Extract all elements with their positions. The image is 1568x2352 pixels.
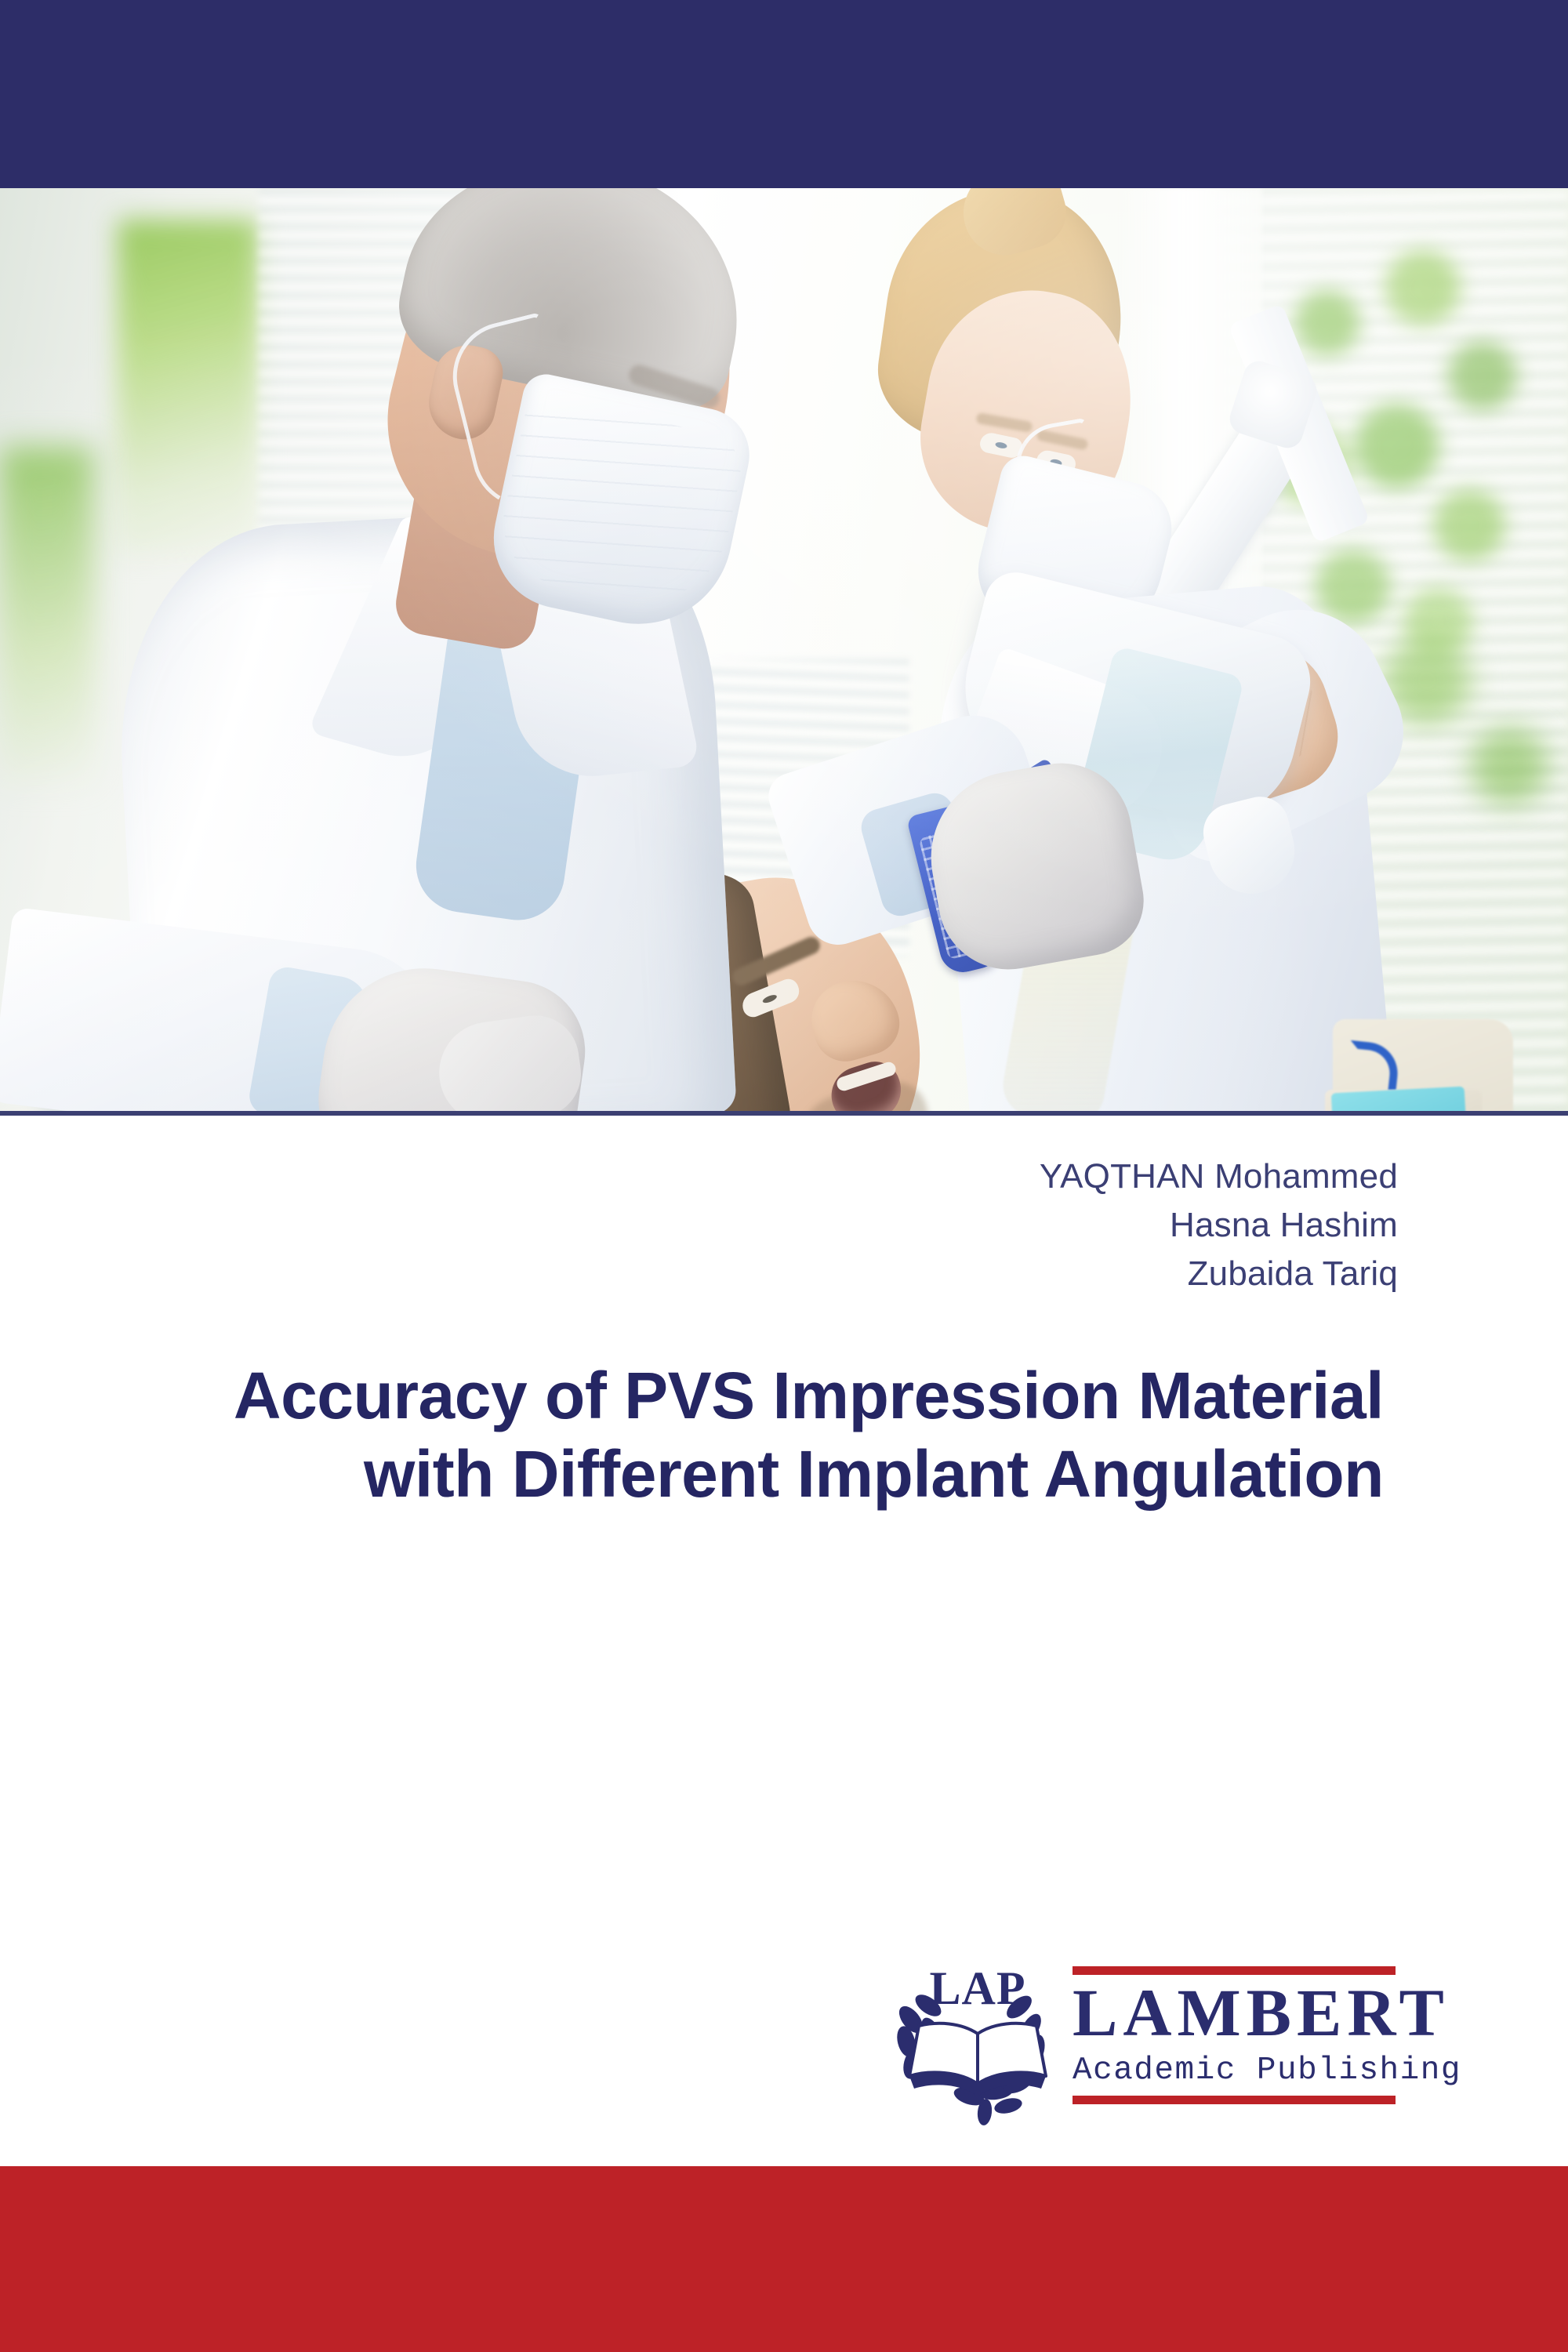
- green-wall-art-panel-lower: [0, 447, 94, 784]
- publisher-logo: LAP LAMBERT Academic Publishing: [894, 1958, 1396, 2131]
- publisher-tagline: Academic Publishing: [1073, 2050, 1396, 2096]
- logo-rule-bottom: [1073, 2096, 1396, 2104]
- author-name-1: YAQTHAN Mohammed: [0, 1152, 1398, 1201]
- cover-photo: [0, 188, 1568, 1116]
- title-line-1: Accuracy of PVS Impression: [234, 1359, 1120, 1432]
- book-cover: YAQTHAN Mohammed Hasna Hashim Zubaida Ta…: [0, 0, 1568, 2352]
- author-list: YAQTHAN Mohammed Hasna Hashim Zubaida Ta…: [0, 1152, 1398, 1298]
- author-name-2: Hasna Hashim: [0, 1201, 1398, 1250]
- author-name-3: Zubaida Tariq: [0, 1250, 1398, 1298]
- svg-text:LAP: LAP: [930, 1962, 1026, 2014]
- clinic-counter: [0, 1113, 439, 1116]
- publisher-wordmark: LAMBERT Academic Publishing: [1073, 1966, 1396, 2104]
- bottom-color-band: [0, 2166, 1568, 2352]
- publisher-name: LAMBERT: [1073, 1975, 1396, 2050]
- title-line-3: Implant Angulation: [797, 1437, 1384, 1511]
- book-title: Accuracy of PVS Impression Material with…: [172, 1356, 1384, 1513]
- dental-clinic-scene: [0, 188, 1568, 1111]
- lap-emblem-icon: LAP: [894, 1958, 1062, 2127]
- top-color-band: [0, 0, 1568, 188]
- logo-rule-top: [1073, 1966, 1396, 1975]
